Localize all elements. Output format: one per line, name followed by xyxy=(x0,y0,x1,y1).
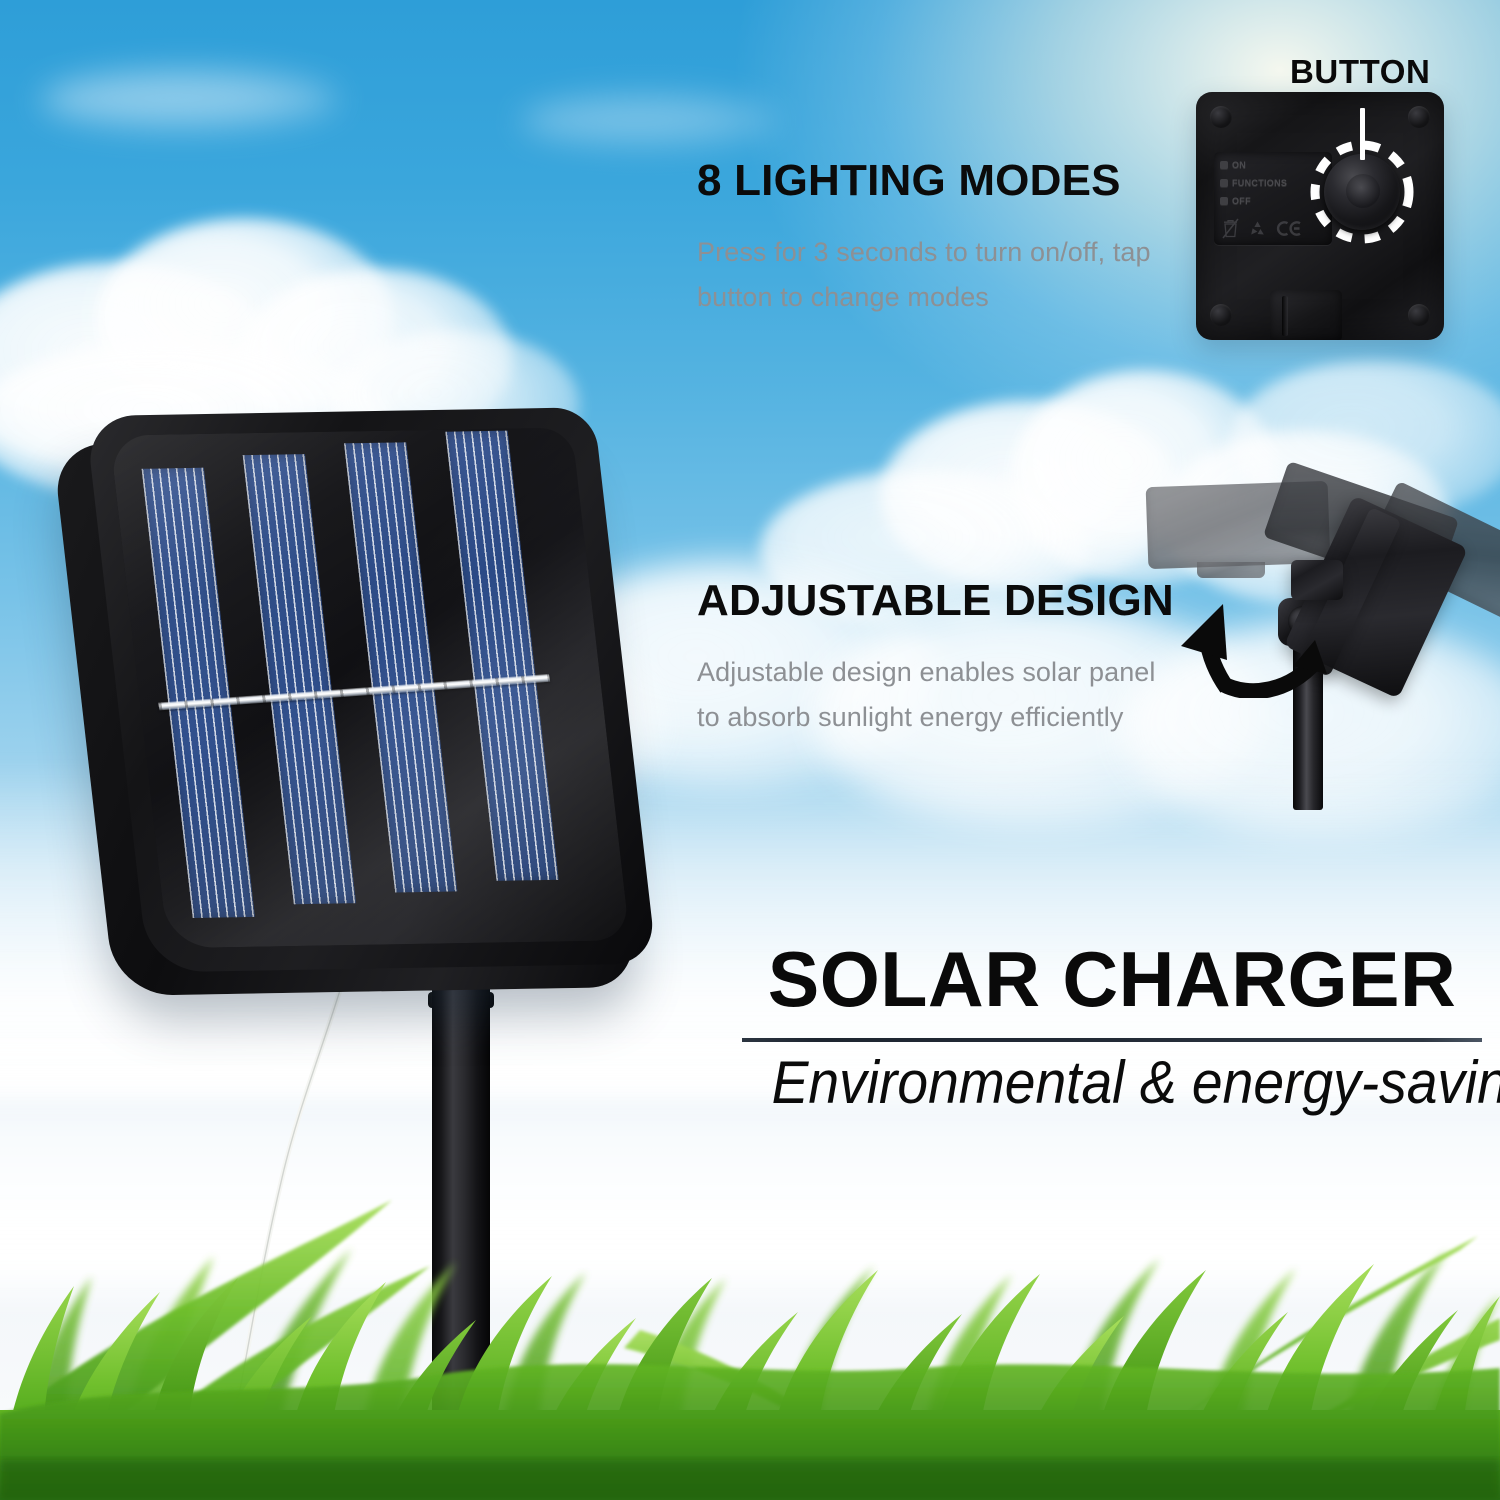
page-title: SOLAR CHARGER xyxy=(746,940,1479,1018)
screw-icon xyxy=(1408,304,1430,326)
feature-heading: ADJUSTABLE DESIGN xyxy=(697,578,1177,624)
emboss-label-on: ON xyxy=(1232,160,1246,170)
round-button-icon[interactable] xyxy=(1324,154,1400,230)
feature-lighting-modes: 8 LIGHTING MODES Press for 3 seconds to … xyxy=(697,158,1177,320)
product-infographic-poster: BUTTON ON FUNCTIONS OFF xyxy=(0,0,1500,1500)
ghost-panel-foot-1 xyxy=(1197,562,1265,578)
emboss-marker-icon xyxy=(1220,197,1228,205)
solar-cell-strip xyxy=(445,431,558,881)
certification-marks xyxy=(1222,218,1302,239)
solar-cell-strip xyxy=(243,454,356,904)
emboss-marker-icon xyxy=(1220,161,1228,169)
emboss-label-functions: FUNCTIONS xyxy=(1232,178,1287,188)
ce-mark-icon xyxy=(1276,220,1302,237)
feature-body: Press for 3 seconds to turn on/off, tap … xyxy=(697,230,1177,320)
weee-crossed-bin-icon xyxy=(1222,218,1239,239)
title-divider xyxy=(742,1038,1482,1042)
cloud-wisp xyxy=(520,95,780,147)
emboss-label-off: OFF xyxy=(1232,196,1251,206)
emboss-marker-icon xyxy=(1220,179,1228,187)
solar-cell-strip xyxy=(142,468,255,918)
panel-glass-face xyxy=(110,428,630,949)
screw-icon xyxy=(1210,106,1232,128)
recycle-icon xyxy=(1248,219,1267,238)
feature-body: Adjustable design enables solar panel to… xyxy=(697,650,1177,740)
solar-panel-assembly xyxy=(43,405,673,1011)
screw-icon xyxy=(1408,106,1430,128)
solar-cell-strip xyxy=(344,442,457,892)
green-grass-icon xyxy=(0,1080,1500,1500)
button-callout-label: BUTTON xyxy=(1290,53,1430,91)
battery-compartment-latch xyxy=(1270,290,1342,340)
feature-adjustable-design: ADJUSTABLE DESIGN Adjustable design enab… xyxy=(697,578,1177,740)
feature-heading: 8 LIGHTING MODES xyxy=(697,158,1177,204)
screw-icon xyxy=(1210,304,1232,326)
cloud-wisp xyxy=(40,70,340,130)
button-panel-photo: ON FUNCTIONS OFF xyxy=(1196,92,1444,340)
adjustable-design-photo xyxy=(1145,480,1500,810)
pointer-line-icon xyxy=(1360,108,1365,160)
rotation-arrow-icon xyxy=(1165,588,1355,698)
